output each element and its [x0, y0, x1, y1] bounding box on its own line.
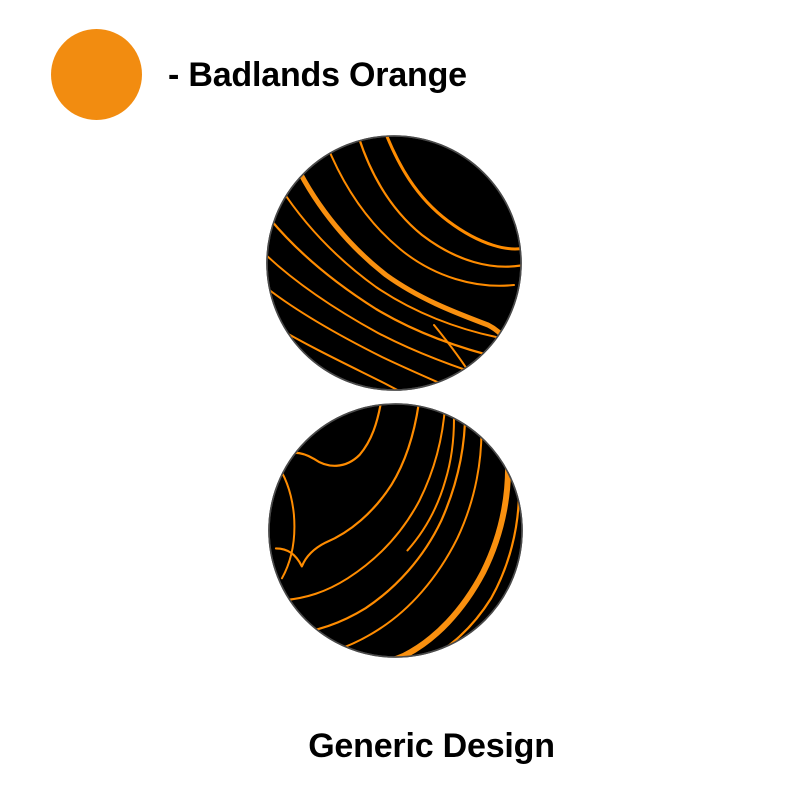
- orb-fill: [267, 136, 521, 390]
- top-contour-orb: [266, 135, 522, 391]
- legend: - Badlands Orange: [51, 29, 571, 121]
- legend-label: - Badlands Orange: [168, 56, 467, 94]
- footer-title: Generic Design: [33, 727, 797, 765]
- filled-circle-swatch-icon: [51, 29, 142, 120]
- orb-fill: [269, 404, 522, 657]
- bottom-contour-orb-svg: [268, 403, 523, 658]
- artwork-canvas: - Badlands Orange Gener: [0, 0, 797, 797]
- top-contour-orb-svg: [266, 135, 522, 391]
- bottom-contour-orb: [268, 403, 523, 658]
